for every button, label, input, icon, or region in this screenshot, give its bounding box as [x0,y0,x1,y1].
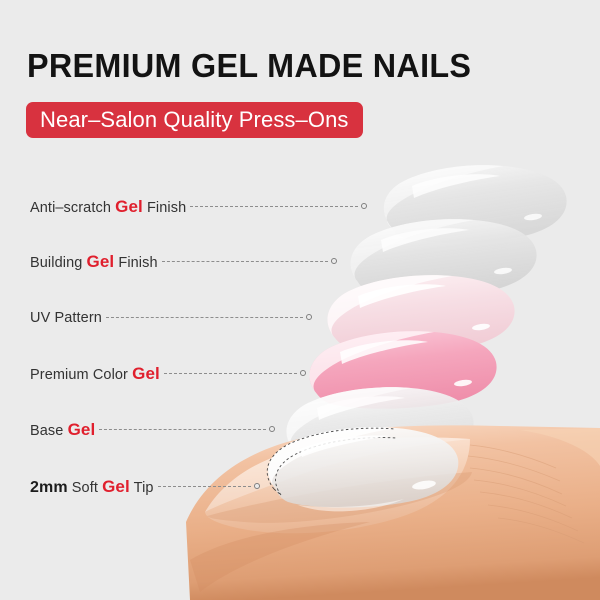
callout-label-building-gel-finish: Building Gel Finish [30,252,158,272]
callout-label-soft-gel-tip: 2mm Soft Gel Tip [30,477,154,497]
nail-layer-illustration [0,0,600,600]
label-part-gel: Gel [102,477,130,496]
label-part-text: Anti–scratch [30,200,115,216]
leader-line-building-gel-finish [162,261,328,263]
label-part-text: Finish [114,255,157,271]
layer-shape-soft-gel-tip [267,427,458,511]
subtitle-badge: Near–Salon Quality Press–Ons [26,102,363,138]
layer-shape-base-gel [286,387,473,465]
label-part-text: Premium Color [30,367,132,383]
layer-shape-premium-color-gel [309,331,496,409]
leader-line-soft-gel-tip [158,486,251,488]
callout-label-uv-pattern: UV Pattern [30,310,102,326]
leader-line-premium-color-gel [164,373,297,375]
leader-line-anti-scratch-gel-finish [190,206,358,208]
label-part-text: Tip [130,480,154,496]
label-part-gel: Gel [115,197,143,216]
callout-row-base-gel: Base Gel [0,418,266,442]
layer-shape-building-gel [350,219,536,297]
callout-label-anti-scratch-gel-finish: Anti–scratch Gel Finish [30,197,186,217]
callout-row-anti-scratch-gel-finish: Anti–scratch Gel Finish [0,195,358,219]
callout-row-soft-gel-tip: 2mm Soft Gel Tip [0,475,251,499]
callout-label-base-gel: Base Gel [30,420,95,440]
label-part-gel: Gel [68,420,96,439]
label-part-bold: 2mm [30,479,68,496]
label-part-text: Base [30,423,68,439]
infographic-canvas: PREMIUM GEL MADE NAILS Near–Salon Qualit… [0,0,600,600]
label-part-text: Building [30,255,87,271]
leader-line-base-gel [99,429,266,431]
label-part-text: Soft [68,480,102,496]
callout-row-uv-pattern: UV Pattern [0,306,303,330]
layer-shape-anti-scratch [384,165,567,243]
page-title: PREMIUM GEL MADE NAILS [27,47,471,85]
leader-line-uv-pattern [106,317,303,319]
label-part-gel: Gel [87,252,115,271]
label-part-gel: Gel [132,364,160,383]
label-part-text: Finish [143,200,186,216]
callout-row-premium-color-gel: Premium Color Gel [0,362,297,386]
layer-shape-uv-pattern [327,275,514,353]
subtitle-badge-label: Near–Salon Quality Press–Ons [40,107,349,133]
callout-row-building-gel-finish: Building Gel Finish [0,250,328,274]
label-part-text: UV Pattern [30,310,102,326]
callout-label-premium-color-gel: Premium Color Gel [30,364,160,384]
fingertip [186,425,600,600]
